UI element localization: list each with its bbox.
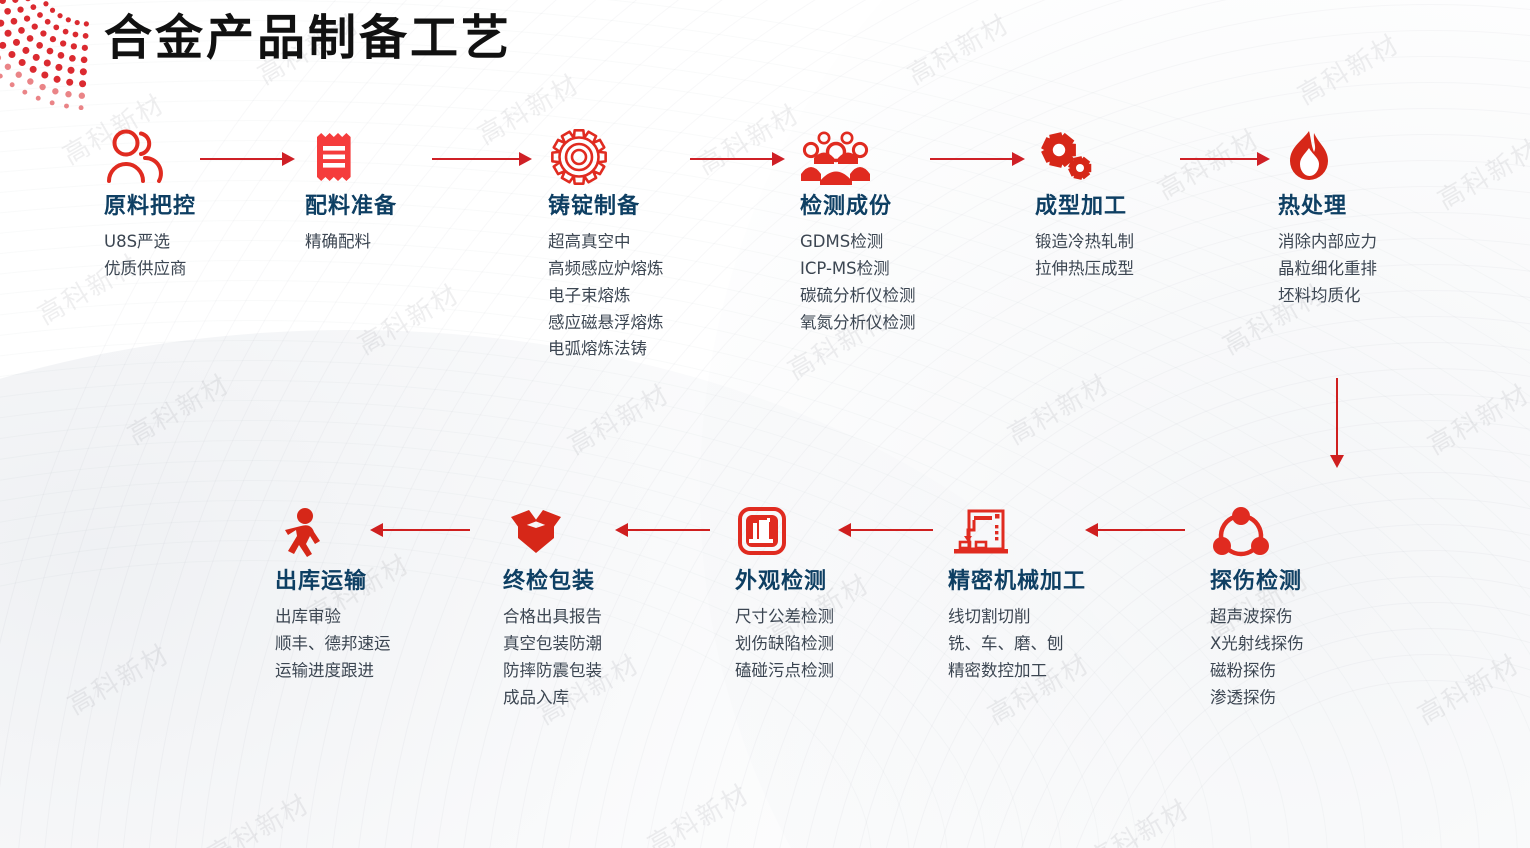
two-people-icon <box>104 128 166 186</box>
step-line: 成品入库 <box>503 685 602 712</box>
step-title: 铸锭制备 <box>548 194 664 220</box>
step-line: 晶粒细化重排 <box>1278 256 1377 283</box>
open-box-icon <box>503 503 569 561</box>
arrow-step2-to-step3 <box>432 152 532 166</box>
step-title: 原料把控 <box>104 194 196 220</box>
factory-frame-icon <box>735 503 789 561</box>
step-forming-processing[interactable]: 成型加工 锻造冷热轧制 拉伸热压成型 <box>1035 128 1134 283</box>
arrow-step6-to-step7 <box>1330 378 1344 468</box>
step-line: 碳硫分析仪检测 <box>800 283 916 310</box>
step-title: 终检包装 <box>503 569 602 595</box>
step-precision-machining[interactable]: 精密机械加工 线切割切削 铣、车、磨、刨 精密数控加工 <box>948 503 1086 685</box>
step-line: 超声波探伤 <box>1210 604 1304 631</box>
step-line: X光射线探伤 <box>1210 631 1304 658</box>
arrow-step7-to-step8 <box>1085 523 1185 537</box>
step-lines: 超声波探伤 X光射线探伤 磁粉探伤 渗透探伤 <box>1210 604 1304 711</box>
step-lines: U8S严选 优质供应商 <box>104 229 196 282</box>
step-heat-treatment[interactable]: 热处理 消除内部应力 晶粒细化重排 坯料均质化 <box>1278 128 1377 310</box>
step-line: 铣、车、磨、刨 <box>948 631 1086 658</box>
step-lines: GDMS检测 ICP-MS检测 碳硫分析仪检测 氧氮分析仪检测 <box>800 229 916 336</box>
step-line: 消除内部应力 <box>1278 229 1377 256</box>
double-gears-icon <box>1035 128 1105 186</box>
people-group-icon <box>800 128 872 186</box>
step-line: 锻造冷热轧制 <box>1035 229 1134 256</box>
step-line: ICP-MS检测 <box>800 256 916 283</box>
step-line: 优质供应商 <box>104 256 196 283</box>
arrow-step1-to-step2 <box>200 152 295 166</box>
receipt-document-icon <box>305 128 363 186</box>
step-final-inspection-packaging[interactable]: 终检包装 合格出具报告 真空包装防潮 防摔防震包装 成品入库 <box>503 503 602 711</box>
step-title: 检测成份 <box>800 194 916 220</box>
step-composition-testing[interactable]: 检测成份 GDMS检测 ICP-MS检测 碳硫分析仪检测 氧氮分析仪检测 <box>800 128 916 336</box>
step-lines: 超高真空中 高频感应炉熔炼 电子束熔炼 感应磁悬浮熔炼 电弧熔炼法铸 <box>548 229 664 363</box>
step-line: 感应磁悬浮熔炼 <box>548 310 664 337</box>
step-line: 顺丰、德邦速运 <box>275 631 391 658</box>
step-outbound-shipping[interactable]: 出库运输 出库审验 顺丰、德邦速运 运输进度跟进 <box>275 503 391 685</box>
step-lines: 消除内部应力 晶粒细化重排 坯料均质化 <box>1278 229 1377 309</box>
step-title: 精密机械加工 <box>948 569 1086 595</box>
arrow-step9-to-step10 <box>615 523 710 537</box>
step-line: GDMS检测 <box>800 229 916 256</box>
page-title: 合金产品制备工艺 <box>104 8 512 68</box>
step-line: 真空包装防潮 <box>503 631 602 658</box>
step-lines: 精确配料 <box>305 229 397 256</box>
step-line: 防摔防震包装 <box>503 658 602 685</box>
step-flaw-detection[interactable]: 探伤检测 超声波探伤 X光射线探伤 磁粉探伤 渗透探伤 <box>1210 503 1304 711</box>
step-line: 氧氮分析仪检测 <box>800 310 916 337</box>
arrow-step4-to-step5 <box>930 152 1025 166</box>
step-lines: 出库审验 顺丰、德邦速运 运输进度跟进 <box>275 604 391 684</box>
gear-target-icon <box>548 128 610 186</box>
step-line: 高频感应炉熔炼 <box>548 256 664 283</box>
step-lines: 合格出具报告 真空包装防潮 防摔防震包装 成品入库 <box>503 604 602 711</box>
step-line: 电弧熔炼法铸 <box>548 336 664 363</box>
step-line: 出库审验 <box>275 604 391 631</box>
step-title: 出库运输 <box>275 569 391 595</box>
step-line: 磕碰污点检测 <box>735 658 834 685</box>
step-line: 尺寸公差检测 <box>735 604 834 631</box>
step-line: 磁粉探伤 <box>1210 658 1304 685</box>
step-title: 外观检测 <box>735 569 834 595</box>
step-line: 超高真空中 <box>548 229 664 256</box>
step-raw-material-control[interactable]: 原料把控 U8S严选 优质供应商 <box>104 128 196 283</box>
step-ingot-preparation[interactable]: 铸锭制备 超高真空中 高频感应炉熔炼 电子束熔炼 感应磁悬浮熔炼 电弧熔炼法铸 <box>548 128 664 363</box>
step-title: 成型加工 <box>1035 194 1134 220</box>
step-line: 精密数控加工 <box>948 658 1086 685</box>
step-title: 探伤检测 <box>1210 569 1304 595</box>
step-line: U8S严选 <box>104 229 196 256</box>
walking-person-icon <box>275 503 329 561</box>
step-line: 渗透探伤 <box>1210 685 1304 712</box>
step-title: 热处理 <box>1278 194 1377 220</box>
step-lines: 线切割切削 铣、车、磨、刨 精密数控加工 <box>948 604 1086 684</box>
step-line: 运输进度跟进 <box>275 658 391 685</box>
step-lines: 锻造冷热轧制 拉伸热压成型 <box>1035 229 1134 282</box>
step-title: 配料准备 <box>305 194 397 220</box>
arrow-step3-to-step4 <box>690 152 785 166</box>
three-node-network-icon <box>1210 503 1272 561</box>
step-batching-preparation[interactable]: 配料准备 精确配料 <box>305 128 397 256</box>
step-lines: 尺寸公差检测 划伤缺陷检测 磕碰污点检测 <box>735 604 834 684</box>
flame-icon <box>1278 128 1340 186</box>
step-line: 精确配料 <box>305 229 397 256</box>
step-appearance-inspection[interactable]: 外观检测 尺寸公差检测 划伤缺陷检测 磕碰污点检测 <box>735 503 834 685</box>
step-line: 坯料均质化 <box>1278 283 1377 310</box>
step-line: 线切割切削 <box>948 604 1086 631</box>
step-line: 划伤缺陷检测 <box>735 631 834 658</box>
cnc-machine-icon <box>948 503 1014 561</box>
step-line: 电子束熔炼 <box>548 283 664 310</box>
arrow-step5-to-step6 <box>1180 152 1270 166</box>
step-line: 合格出具报告 <box>503 604 602 631</box>
arrow-step8-to-step9 <box>838 523 933 537</box>
step-line: 拉伸热压成型 <box>1035 256 1134 283</box>
